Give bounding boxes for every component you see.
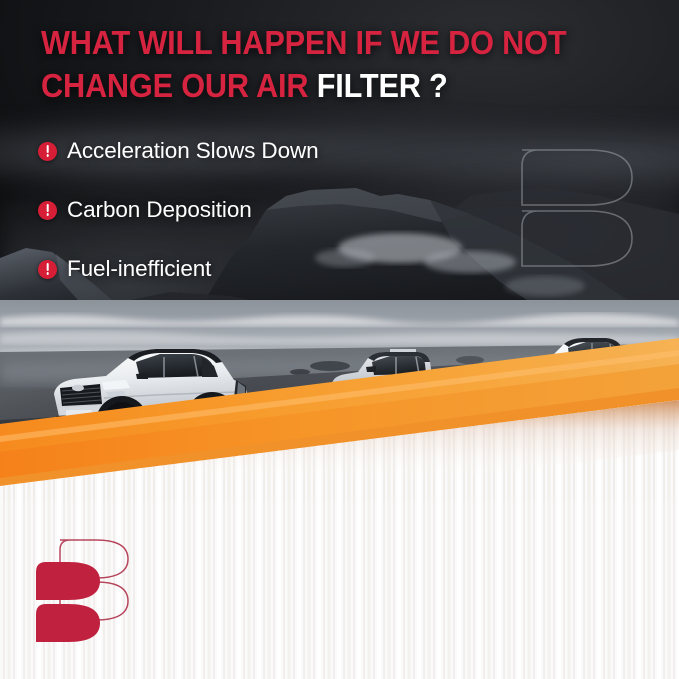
headline-line-2: CHANGE OUR AIR FILTER ? <box>41 65 599 108</box>
warning-exclamation-icon <box>38 201 57 220</box>
brand-logo-mark <box>34 536 142 653</box>
warning-exclamation-icon <box>38 260 57 279</box>
headline-line-1-text: WHAT WILL HAPPEN IF WE DO NOT <box>41 24 566 61</box>
benefits-list: Acceleration Slows Down Carbon Depositio… <box>38 136 458 284</box>
list-item: Acceleration Slows Down <box>38 136 458 166</box>
headline-line-2-white: FILTER ? <box>317 67 448 104</box>
list-item-label: Fuel-inefficient <box>67 256 211 282</box>
list-item: Carbon Deposition <box>38 195 458 225</box>
list-item-label: Acceleration Slows Down <box>67 138 319 164</box>
headline-line-2-red: CHANGE OUR AIR <box>41 67 308 104</box>
page-title: WHAT WILL HAPPEN IF WE DO NOT CHANGE OUR… <box>41 22 599 108</box>
list-item: Fuel-inefficient <box>38 254 458 284</box>
promo-banner: WHAT WILL HAPPEN IF WE DO NOT CHANGE OUR… <box>0 0 679 679</box>
headline-line-1: WHAT WILL HAPPEN IF WE DO NOT <box>41 22 599 65</box>
list-item-label: Carbon Deposition <box>67 197 252 223</box>
warning-exclamation-icon <box>38 142 57 161</box>
